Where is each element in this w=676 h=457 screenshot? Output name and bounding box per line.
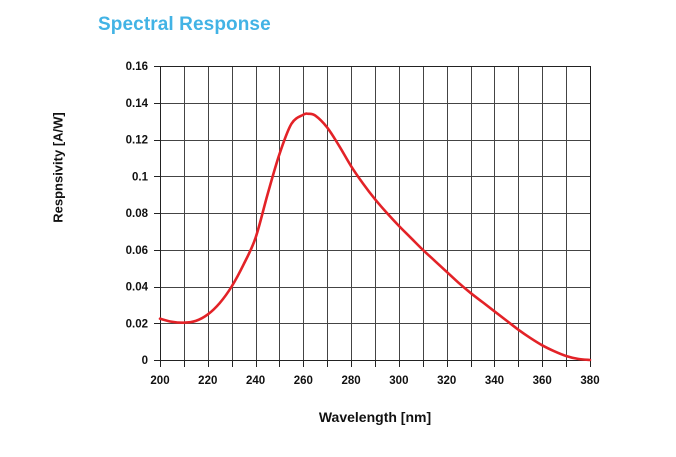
y-tick-label: 0.02 <box>126 318 148 330</box>
axis-tick-marks <box>154 67 591 368</box>
x-tick-label: 240 <box>246 375 265 387</box>
y-tick-label: 0.04 <box>126 282 149 294</box>
y-tick-label: 0.06 <box>126 245 148 257</box>
x-axis-tick-labels: 200220240260280300320340360380 <box>150 375 599 387</box>
x-tick-label: 260 <box>294 375 313 387</box>
x-tick-label: 340 <box>485 375 504 387</box>
x-axis-title: Wavelength [nm] <box>160 409 590 425</box>
chart-figure: Spectral Response 00.020.040.060.080.10.… <box>0 0 676 457</box>
y-tick-label: 0.08 <box>126 208 149 220</box>
y-axis-title: Respnsivity [A/W] <box>51 88 66 248</box>
spectral-response-plot: 00.020.040.060.080.10.120.140.16 2002202… <box>0 0 676 457</box>
x-tick-label: 280 <box>342 375 361 387</box>
y-axis-tick-labels: 00.020.040.060.080.10.120.140.16 <box>126 61 149 367</box>
x-tick-label: 360 <box>533 375 552 387</box>
grid-lines <box>160 66 591 361</box>
x-tick-label: 220 <box>198 375 217 387</box>
y-tick-label: 0.14 <box>126 98 149 110</box>
y-tick-label: 0.16 <box>126 61 148 73</box>
x-tick-label: 320 <box>437 375 456 387</box>
x-tick-label: 380 <box>580 375 599 387</box>
y-tick-label: 0.1 <box>132 171 149 183</box>
x-tick-label: 200 <box>150 375 169 387</box>
y-tick-label: 0 <box>142 355 148 367</box>
y-tick-label: 0.12 <box>126 135 148 147</box>
x-tick-label: 300 <box>389 375 408 387</box>
